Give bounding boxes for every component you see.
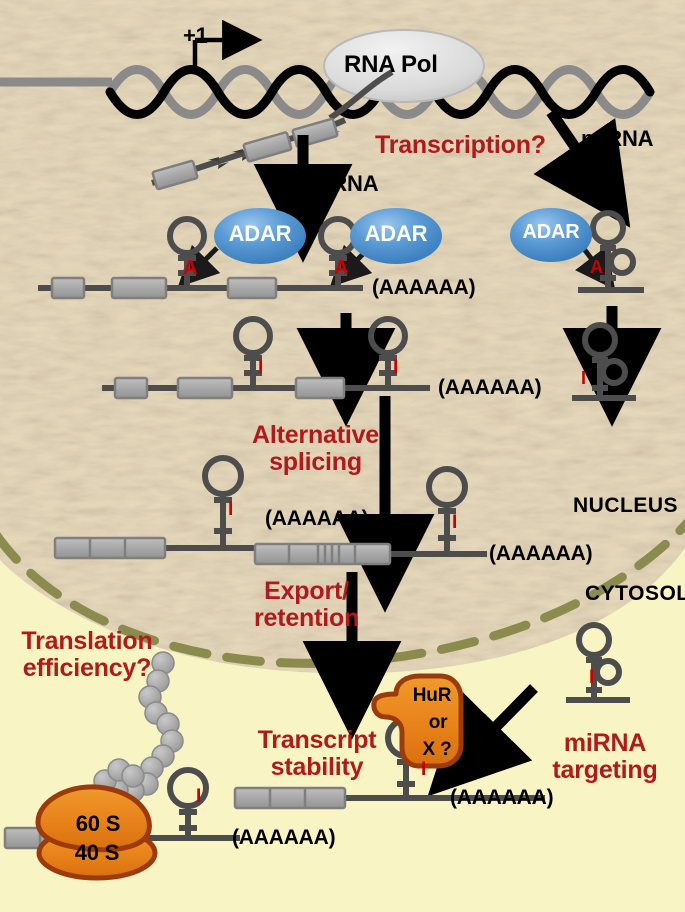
exon-block: [55, 538, 165, 558]
nucleus-label: NUCLEUS: [573, 495, 678, 518]
adar-label-3: ADAR: [520, 222, 582, 244]
adar-label-1: ADAR: [227, 222, 293, 246]
poly-a-4: (AAAAAA): [489, 543, 592, 566]
edit-site-i-1: I: [258, 358, 263, 379]
exon-box: [52, 278, 84, 298]
ribosome-60s-label: 60 S: [65, 812, 131, 836]
edit-site-i-4: I: [228, 500, 233, 521]
edit-site-i-2: I: [393, 358, 398, 379]
edit-site-i-5: I: [452, 513, 457, 534]
hur-x-label: X ?: [414, 740, 460, 761]
exon-block: [235, 788, 345, 808]
edit-site-i-3: I: [581, 369, 586, 388]
poly-a-2: (AAAAAA): [438, 377, 541, 400]
edit-site-a-1: A: [183, 258, 197, 280]
edit-site-i-7-stability: I: [421, 760, 426, 781]
hur-or-label: or: [416, 713, 460, 734]
exon-block: [255, 544, 390, 564]
figure-root: +1 RNA Pol Transcription? miRNA mRNA ADA…: [0, 0, 685, 912]
export-retention-label: Export/ retention: [254, 578, 359, 632]
exon-box: [115, 378, 147, 398]
edit-site-a-2: A: [334, 258, 348, 280]
poly-a-6: (AAAAAA): [232, 827, 335, 850]
poly-a-3: (AAAAAA): [265, 508, 368, 531]
translation-efficiency-label: Translation efficiency?: [11, 628, 163, 682]
rna-pol-label: RNA Pol: [344, 52, 438, 78]
cytosol-label: CYTOSOL: [585, 583, 685, 606]
tss-label: +1: [183, 24, 208, 48]
poly-a-5: (AAAAAA): [450, 787, 553, 810]
exon-box: [296, 378, 344, 398]
edit-site-i-6: I: [589, 668, 594, 689]
edit-site-a-3: A: [590, 258, 603, 277]
hur-label: HuR: [407, 686, 457, 707]
exon-box: [178, 378, 232, 398]
exon-box: [112, 278, 166, 298]
ribosome-40s-label: 40 S: [64, 841, 130, 865]
mirna-top-label: miRNA: [581, 127, 653, 151]
transcript-stability-label: Transcript stability: [257, 727, 377, 781]
alternative-splicing-label: Alternative splicing: [243, 422, 388, 476]
exon-box: [228, 278, 276, 298]
mirna-targeting-label: miRNA targeting: [545, 730, 665, 784]
mrna-label: mRNA: [312, 172, 378, 196]
poly-a-1: (AAAAAA): [372, 277, 475, 300]
transcription-label: Transcription?: [375, 132, 546, 159]
edit-site-i-translation: I: [196, 787, 201, 808]
adar-label-2: ADAR: [363, 222, 429, 246]
